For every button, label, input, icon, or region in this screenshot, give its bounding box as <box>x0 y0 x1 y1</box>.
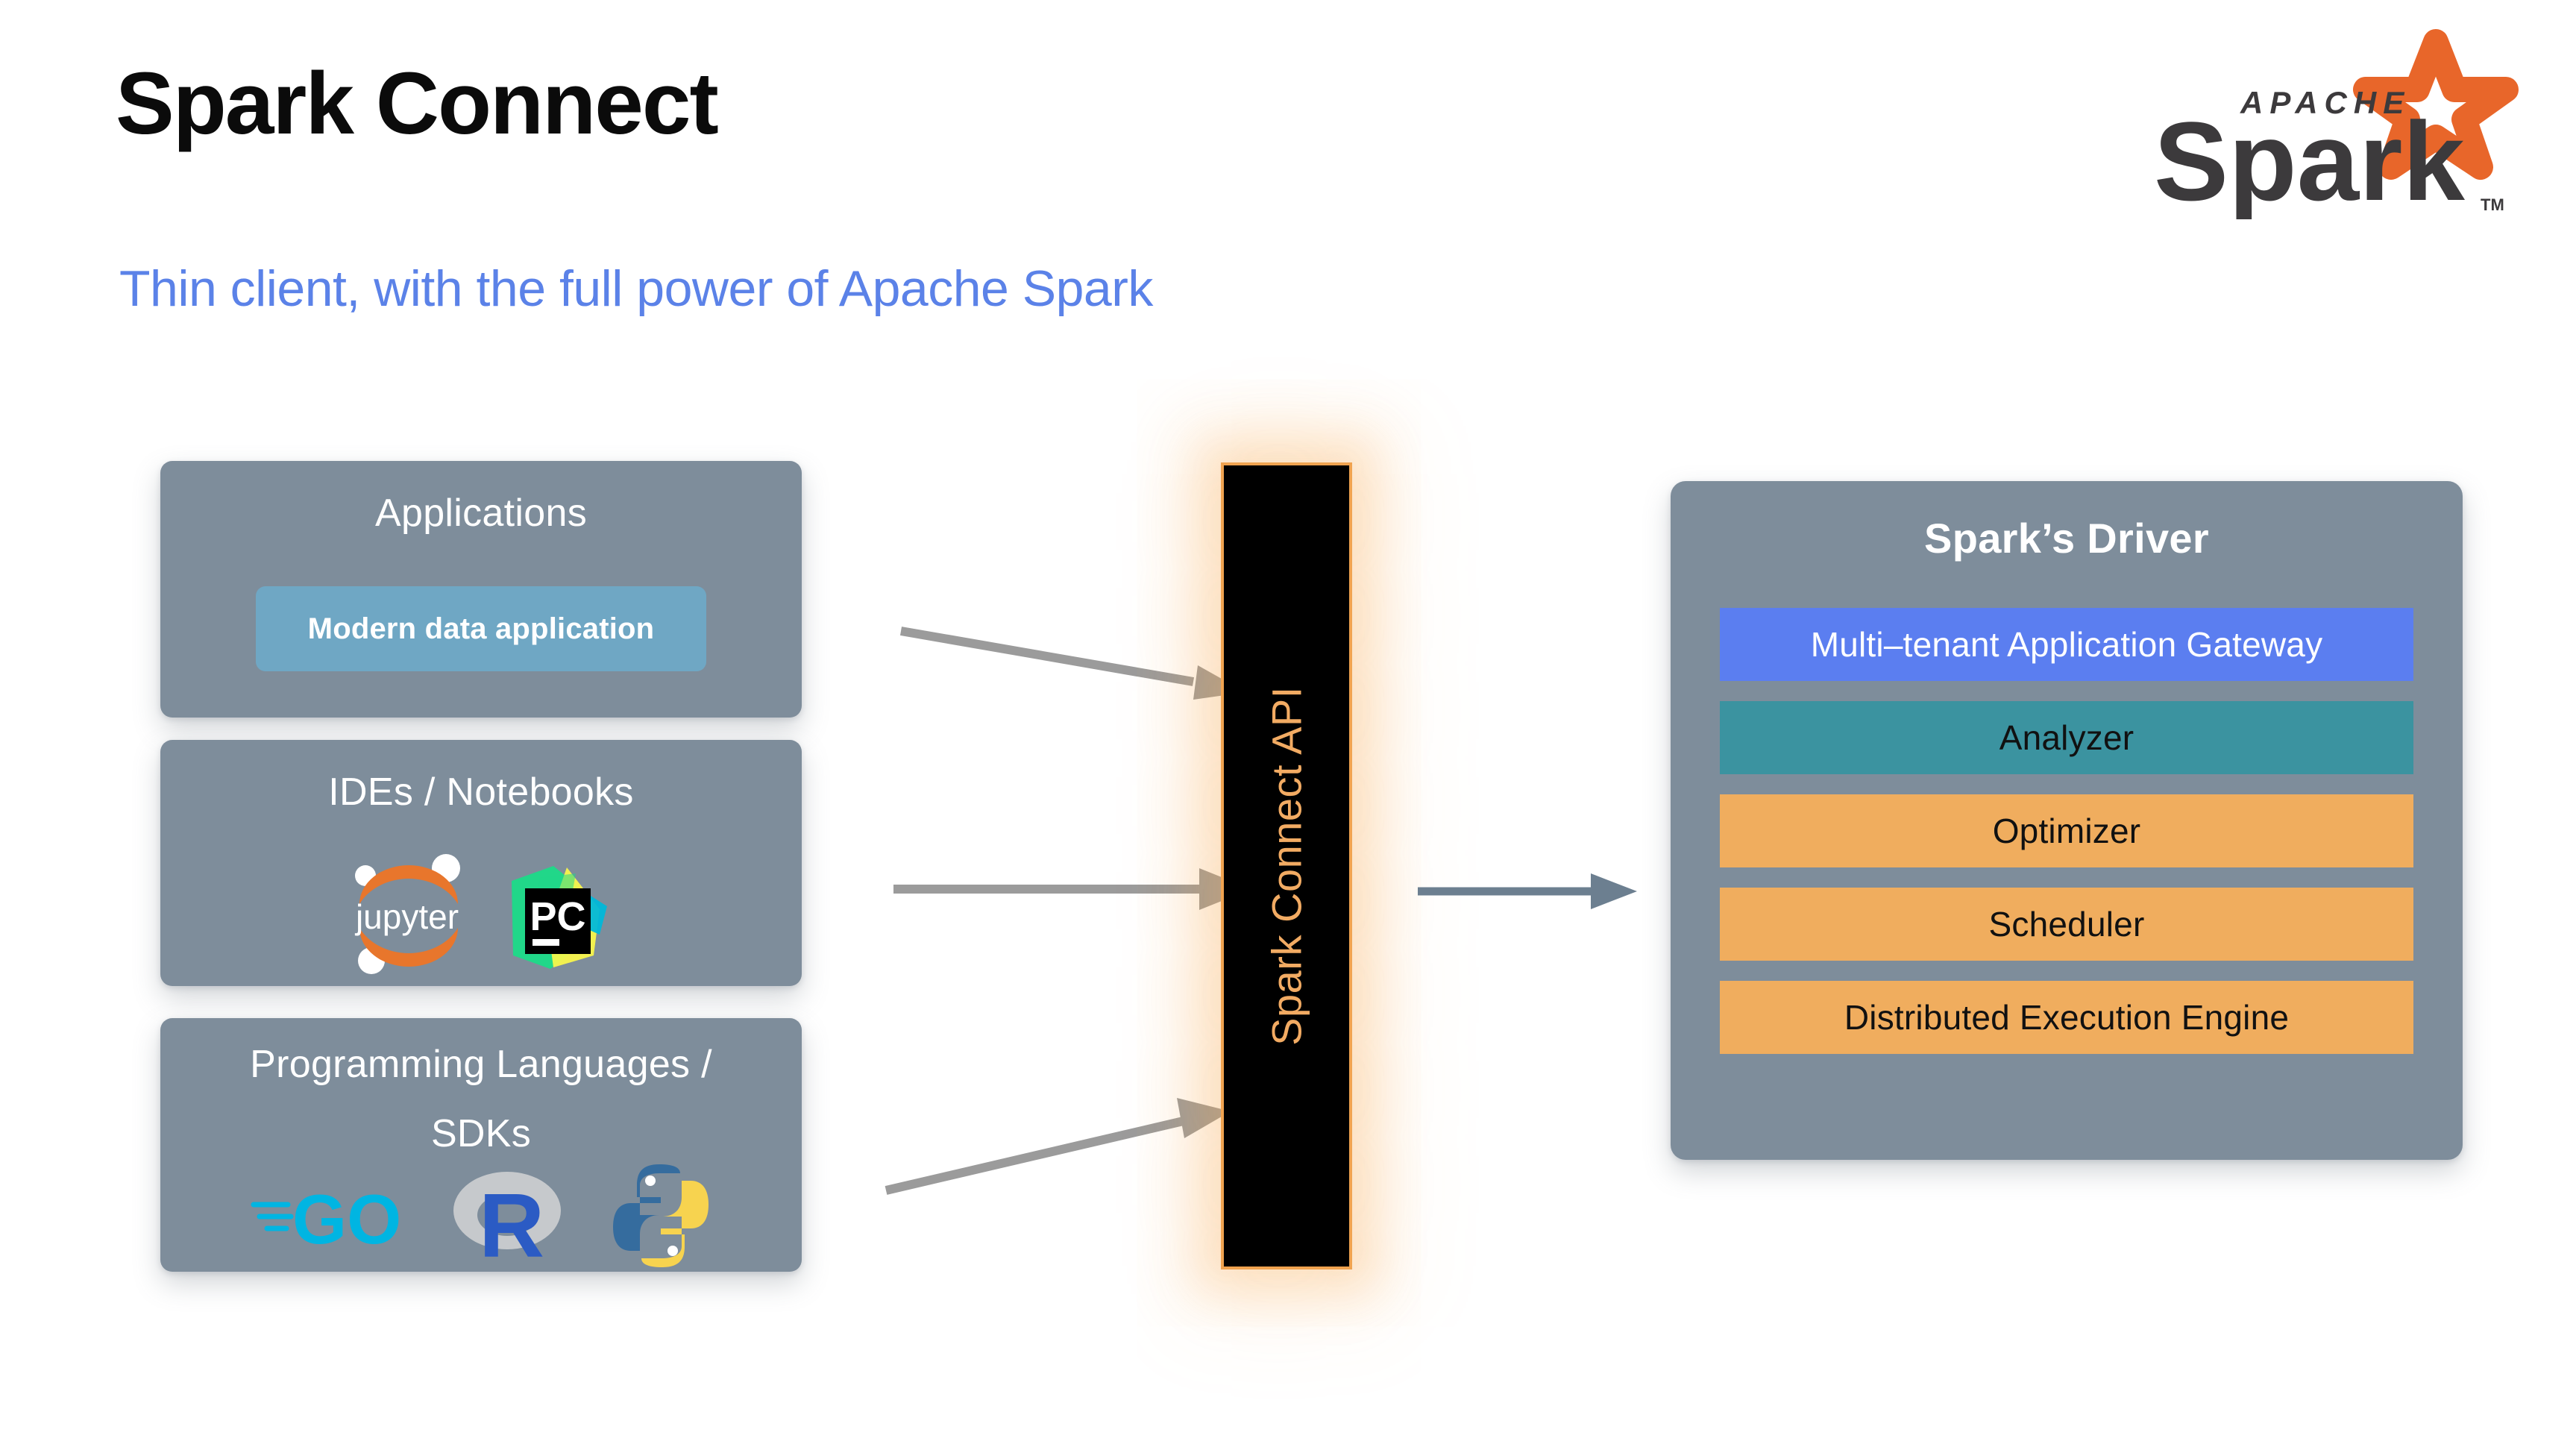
panel-programming-languages[interactable]: Programming Languages / SDKs GO <box>160 1018 802 1272</box>
go-wordmark: GO <box>292 1180 401 1257</box>
driver-row-optimizer-label: Optimizer <box>1993 811 2141 851</box>
driver-row-scheduler-label: Scheduler <box>1989 904 2145 944</box>
spark-wordmark: Spark <box>2154 98 2465 219</box>
arrow-connect-to-driver <box>1413 861 1652 921</box>
go-logo: GO <box>249 1175 406 1261</box>
driver-row-gateway[interactable]: Multi–tenant Application Gateway <box>1720 608 2413 681</box>
panel-spark-driver[interactable]: Spark’s Driver Multi–tenant Application … <box>1671 481 2463 1160</box>
modern-data-application-chip[interactable]: Modern data application <box>256 586 706 671</box>
driver-stack: Multi–tenant Application Gateway Analyze… <box>1720 608 2413 1054</box>
driver-row-optimizer[interactable]: Optimizer <box>1720 794 2413 867</box>
driver-row-gateway-label: Multi–tenant Application Gateway <box>1811 624 2323 665</box>
spark-connect-api-bar[interactable]: Spark Connect API <box>1221 462 1352 1269</box>
pycharm-wordmark: PC <box>530 894 585 939</box>
driver-row-execution-engine[interactable]: Distributed Execution Engine <box>1720 981 2413 1054</box>
arrow-languages-to-connect <box>880 1082 1275 1201</box>
pycharm-logo: PC <box>495 851 621 980</box>
r-logo: R <box>447 1160 567 1275</box>
driver-row-analyzer-label: Analyzer <box>1999 718 2134 758</box>
page-subtitle: Thin client, with the full power of Apac… <box>119 260 1153 318</box>
jupyter-wordmark: jupyter <box>354 897 459 936</box>
page-title: Spark Connect <box>116 58 717 151</box>
panel-ides-notebooks[interactable]: IDEs / Notebooks jupyter <box>160 740 802 986</box>
panel-languages-title-line1: Programming Languages / <box>160 1042 802 1087</box>
panel-applications-title: Applications <box>160 491 802 536</box>
trademark-mark: TM <box>2481 195 2504 214</box>
language-logo-row: GO R <box>160 1160 802 1275</box>
panel-languages-title-line2: SDKs <box>160 1111 802 1157</box>
panel-ides-title: IDEs / Notebooks <box>160 770 802 815</box>
panel-applications[interactable]: Applications Modern data application <box>160 461 802 718</box>
spark-connect-api-label: Spark Connect API <box>1263 686 1311 1046</box>
driver-row-scheduler[interactable]: Scheduler <box>1720 888 2413 961</box>
ide-logo-row: jupyter PC <box>160 850 802 981</box>
r-wordmark: R <box>479 1175 544 1272</box>
apache-spark-logo: APACHE Spark TM <box>2143 18 2524 219</box>
driver-row-execution-engine-label: Distributed Execution Engine <box>1844 997 2289 1038</box>
driver-row-analyzer[interactable]: Analyzer <box>1720 701 2413 774</box>
python-logo <box>609 1160 713 1275</box>
panel-driver-title: Spark’s Driver <box>1671 514 2463 563</box>
slide-canvas: Spark Connect Thin client, with the full… <box>0 0 2576 1447</box>
jupyter-logo: jupyter <box>342 850 473 981</box>
